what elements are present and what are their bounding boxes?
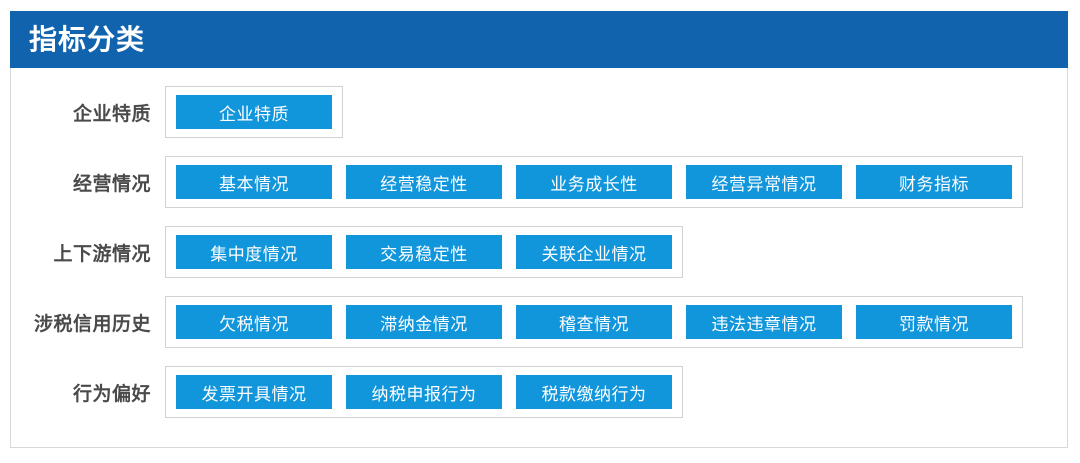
chip-button[interactable]: 违法违章情况: [686, 305, 842, 339]
chip-button[interactable]: 发票开具情况: [176, 375, 332, 409]
category-row-jingyingqingkuang: 经营情况 基本情况 经营稳定性 业务成长性 经营异常情况 财务指标: [10, 156, 1068, 208]
chip-button[interactable]: 经营稳定性: [346, 165, 502, 199]
chip-button[interactable]: 税款缴纳行为: [516, 375, 672, 409]
row-label: 行为偏好: [10, 379, 165, 406]
chip-button[interactable]: 财务指标: [856, 165, 1012, 199]
chip-button[interactable]: 业务成长性: [516, 165, 672, 199]
chip-button[interactable]: 滞纳金情况: [346, 305, 502, 339]
category-rows: 企业特质 企业特质 经营情况 基本情况 经营稳定性 业务成长性 经营异常情况 财…: [10, 68, 1068, 448]
chip-group: 企业特质: [165, 86, 343, 138]
page-title: 指标分类: [29, 26, 145, 54]
chip-group: 基本情况 经营稳定性 业务成长性 经营异常情况 财务指标: [165, 156, 1023, 208]
row-label: 涉税信用历史: [10, 309, 165, 336]
chip-button[interactable]: 企业特质: [176, 95, 332, 129]
category-row-shangxiayouqingkuang: 上下游情况 集中度情况 交易稳定性 关联企业情况: [10, 226, 1068, 278]
chip-button[interactable]: 稽查情况: [516, 305, 672, 339]
category-row-shesheixinyonglishi: 涉税信用历史 欠税情况 滞纳金情况 稽查情况 违法违章情况 罚款情况: [10, 296, 1068, 348]
card-header-bar: 指标分类: [10, 11, 1068, 68]
chip-button[interactable]: 经营异常情况: [686, 165, 842, 199]
chip-button[interactable]: 欠税情况: [176, 305, 332, 339]
category-row-xingweipianhao: 行为偏好 发票开具情况 纳税申报行为 税款缴纳行为: [10, 366, 1068, 418]
row-label: 上下游情况: [10, 239, 165, 266]
chip-button[interactable]: 纳税申报行为: [346, 375, 502, 409]
chip-group: 欠税情况 滞纳金情况 稽查情况 违法违章情况 罚款情况: [165, 296, 1023, 348]
chip-button[interactable]: 关联企业情况: [516, 235, 672, 269]
row-label: 企业特质: [10, 99, 165, 126]
chip-button[interactable]: 交易稳定性: [346, 235, 502, 269]
chip-button[interactable]: 基本情况: [176, 165, 332, 199]
row-label: 经营情况: [10, 169, 165, 196]
chip-group: 集中度情况 交易稳定性 关联企业情况: [165, 226, 683, 278]
chip-group: 发票开具情况 纳税申报行为 税款缴纳行为: [165, 366, 683, 418]
category-row-qiyetezhi: 企业特质 企业特质: [10, 86, 1068, 138]
chip-button[interactable]: 集中度情况: [176, 235, 332, 269]
indicator-classification-page: 指标分类 企业特质 企业特质 经营情况 基本情况 经营稳定性 业务成长性 经营异…: [0, 0, 1080, 463]
chip-button[interactable]: 罚款情况: [856, 305, 1012, 339]
